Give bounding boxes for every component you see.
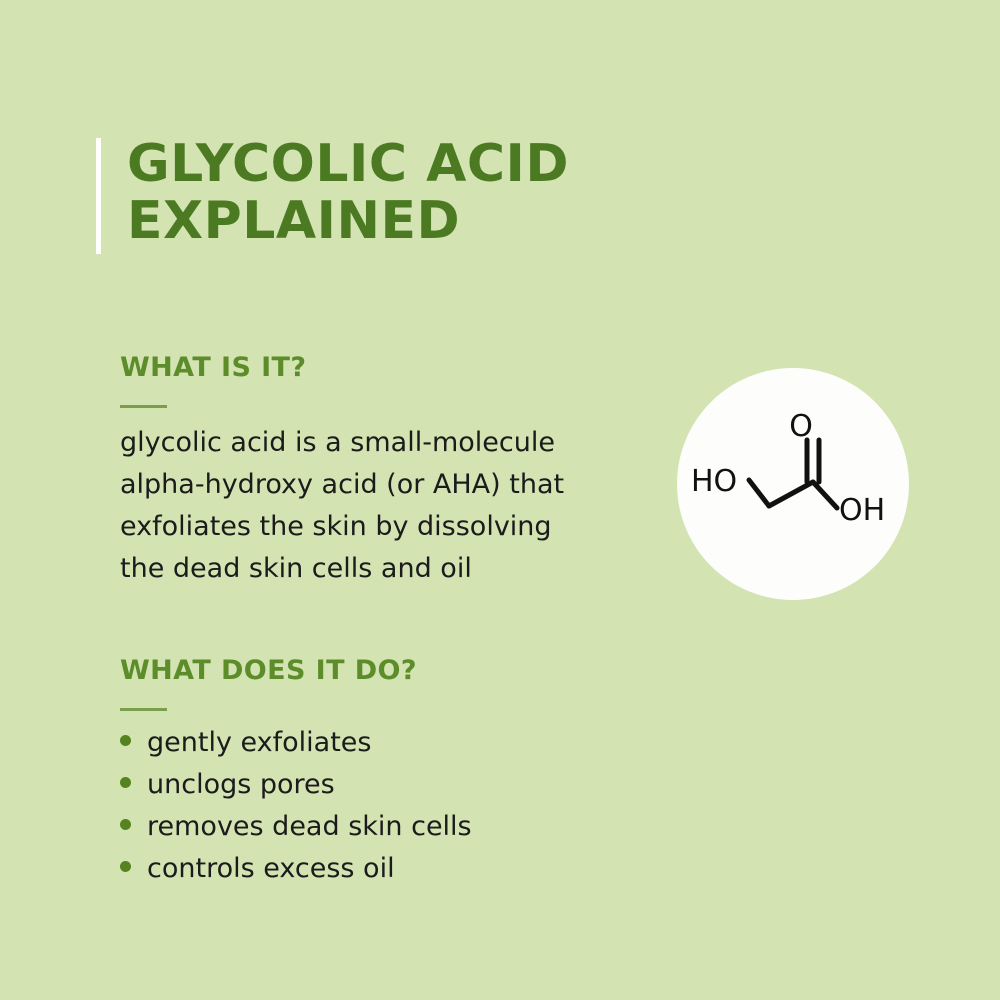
page-title: GLYCOLIC ACID EXPLAINED <box>127 136 569 250</box>
section-heading-what-is-it: WHAT IS IT? <box>120 352 564 383</box>
bond-methylene-to-carbonyl <box>769 482 813 506</box>
section-divider-rule <box>120 708 167 711</box>
section-body-what-is-it: glycolic acid is a small-molecule alpha-… <box>120 422 564 590</box>
section-heading-what-does-it-do: WHAT DOES IT DO? <box>120 655 472 686</box>
benefits-list: gently exfoliates unclogs pores removes … <box>120 725 472 887</box>
bullet-dot-icon <box>120 735 131 746</box>
molecule-label-oh: OH <box>839 493 885 528</box>
glycolic-acid-molecule-icon: HO O OH <box>677 368 909 600</box>
molecule-illustration-circle: HO O OH <box>677 368 909 600</box>
section-what-is-it: WHAT IS IT? glycolic acid is a small-mol… <box>120 352 564 617</box>
list-item: gently exfoliates <box>120 725 472 761</box>
list-item-label: controls excess oil <box>147 851 395 887</box>
bond-hydroxyl-to-methylene <box>749 480 769 506</box>
list-item: unclogs pores <box>120 767 472 803</box>
molecule-label-ho: HO <box>691 464 737 499</box>
title-accent-bar <box>96 138 101 254</box>
list-item: controls excess oil <box>120 851 472 887</box>
list-item-label: gently exfoliates <box>147 725 371 761</box>
section-divider-rule <box>120 405 167 408</box>
list-item-label: unclogs pores <box>147 767 335 803</box>
section-what-does-it-do: WHAT DOES IT DO? gently exfoliates unclo… <box>120 655 472 893</box>
molecule-label-o: O <box>789 409 813 444</box>
bond-carbonyl-to-hydroxyl <box>813 482 837 508</box>
title-block: GLYCOLIC ACID EXPLAINED <box>96 136 569 254</box>
bullet-dot-icon <box>120 777 131 788</box>
bullet-dot-icon <box>120 819 131 830</box>
list-item-label: removes dead skin cells <box>147 809 472 845</box>
infographic-page: GLYCOLIC ACID EXPLAINED WHAT IS IT? glyc… <box>0 0 1000 1000</box>
bullet-dot-icon <box>120 861 131 872</box>
list-item: removes dead skin cells <box>120 809 472 845</box>
